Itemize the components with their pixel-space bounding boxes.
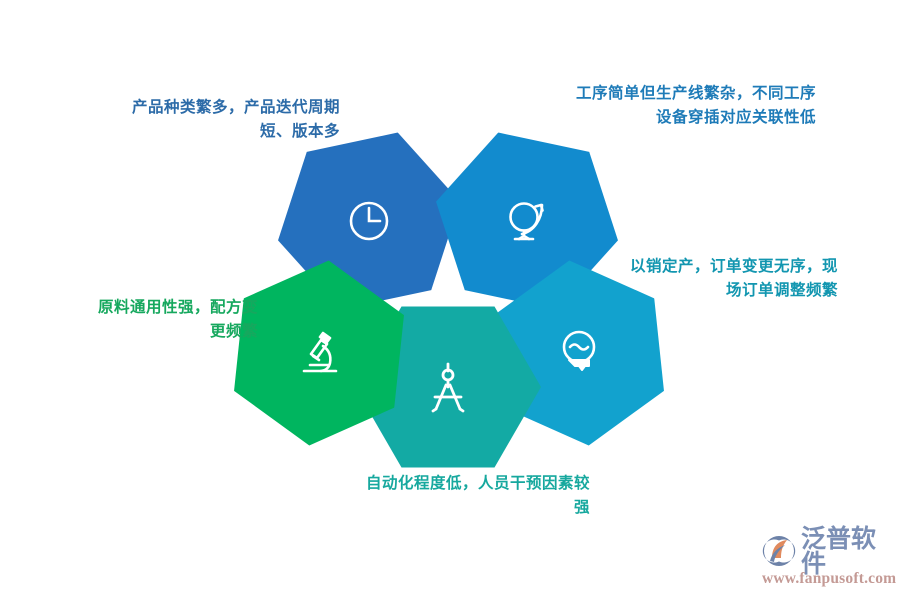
callout-label-material-versatility: 原料通用性强，配方变 更频繁 bbox=[40, 296, 258, 344]
clock-icon bbox=[344, 196, 394, 246]
fanpu-logo-icon bbox=[762, 534, 796, 568]
callout-label-product-variety: 产品种类繁多，产品迭代周期 短、版本多 bbox=[60, 96, 340, 144]
diagram-canvas: 产品种类繁多，产品迭代周期 短、版本多 工序简单但生产线繁杂，不同工序 设备穿插… bbox=[0, 0, 900, 600]
icon-wrap bbox=[341, 193, 397, 249]
drafting-compass-icon bbox=[425, 360, 471, 414]
callout-label-order-driven-production: 以销定产，订单变更无序，现 场订单调整频繁 bbox=[608, 255, 838, 303]
lightbulb-icon bbox=[556, 327, 602, 379]
callout-label-low-automation: 自动化程度低，人员干预因素较 强 bbox=[300, 472, 590, 520]
callout-label-process-complexity: 工序简单但生产线繁杂，不同工序 设备穿插对应关联性低 bbox=[516, 82, 816, 130]
icon-wrap bbox=[420, 359, 476, 415]
icon-wrap bbox=[499, 193, 555, 249]
icon-wrap bbox=[551, 325, 607, 381]
brand-logo[interactable]: 泛普软件 www.fanpusoft.com bbox=[762, 534, 894, 590]
logo-wordmark: 泛普软件 bbox=[801, 526, 894, 576]
logo-row: 泛普软件 bbox=[762, 534, 894, 568]
hexagon-cluster bbox=[258, 128, 638, 480]
icon-wrap bbox=[291, 325, 347, 381]
globe-stand-icon bbox=[501, 195, 553, 247]
microscope-icon bbox=[292, 327, 346, 379]
logo-url: www.fanpusoft.com bbox=[762, 570, 894, 588]
